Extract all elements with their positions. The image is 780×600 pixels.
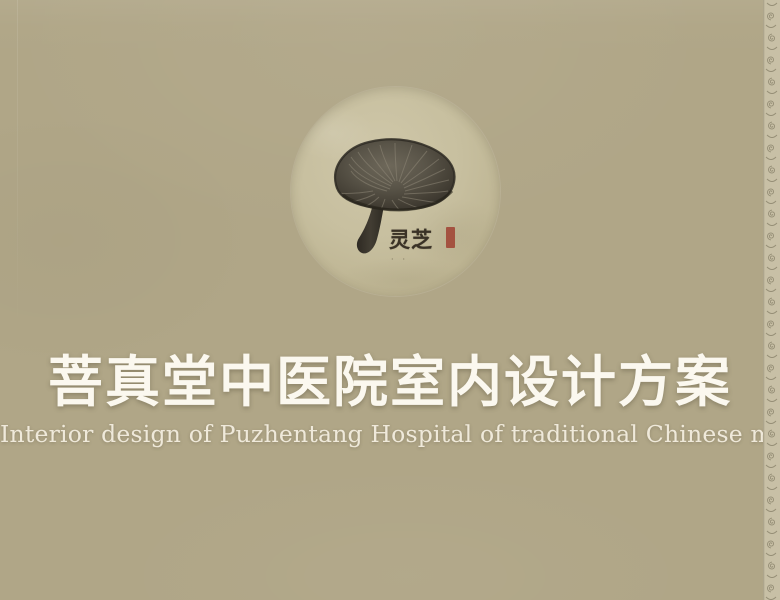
page-title-chinese: 菩真堂中医院室内设计方案 (0, 352, 780, 411)
page-subtitle-english: Interior design of Puzhentang Hospital o… (0, 422, 780, 448)
calligraphy-text: 灵芝 (389, 229, 433, 250)
red-seal-stamp (446, 227, 455, 248)
lingzhi-medallion: 灵芝 ·· (291, 87, 500, 296)
book-cover: 灵芝 ·· 菩真堂中医院室内设计方案 Interior design of Pu… (0, 0, 780, 600)
left-page-seam (17, 0, 18, 330)
title-zone: 菩真堂中医院室内设计方案 Interior design of Puzhenta… (0, 352, 780, 448)
calligraphy-seal-block: 灵芝 ·· (389, 229, 465, 271)
spiral-motif-icon (763, 0, 780, 600)
spiral-pattern-strip (763, 0, 780, 600)
calligraphy-sub-mark: ·· (391, 255, 414, 264)
